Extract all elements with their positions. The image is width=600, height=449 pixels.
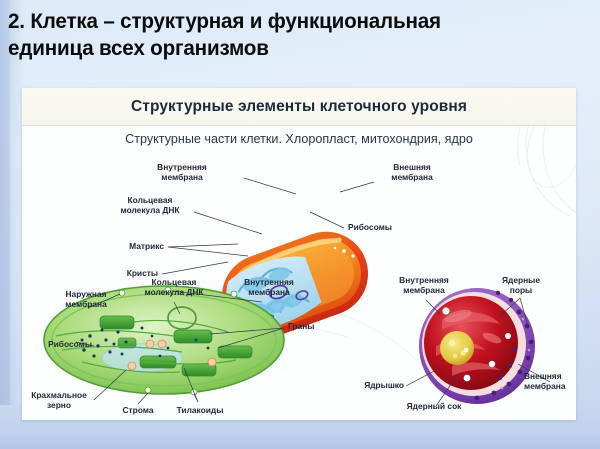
label-nucleus-nuclear-sap: Ядерный сок — [386, 402, 482, 412]
panel-header: Структурные элементы клеточного уровня — [22, 88, 576, 126]
figures-area: Внутренняя мембрана Кольцевая молекула Д… — [22, 150, 576, 420]
panel-subtitle-row: Структурные части клетки. Хлоропласт, ми… — [22, 126, 576, 152]
label-nucleus-nucleolus: Ядрышко — [332, 381, 404, 391]
label-nucleus-outer-membrane: Внешняя мембрана — [524, 372, 598, 391]
background-corner-shade — [0, 0, 24, 449]
label-nucleus-nuclear-pores: Ядерные поры — [486, 276, 556, 295]
slide-title-line-2: единица всех организмов — [8, 35, 569, 62]
label-nucleus-inner-membrane: Внутренняя мембрана — [380, 276, 468, 295]
background-bottom-strip — [0, 435, 600, 449]
content-panel: Структурные элементы клеточного уровня С… — [22, 88, 576, 420]
panel-subtitle: Структурные части клетки. Хлоропласт, ми… — [125, 132, 473, 146]
slide-title-line-1: 2. Клетка – структурная и функциональная — [8, 9, 441, 33]
panel-header-title: Структурные элементы клеточного уровня — [131, 98, 467, 116]
slide-title: 2. Клетка – структурная и функциональная… — [8, 8, 569, 62]
